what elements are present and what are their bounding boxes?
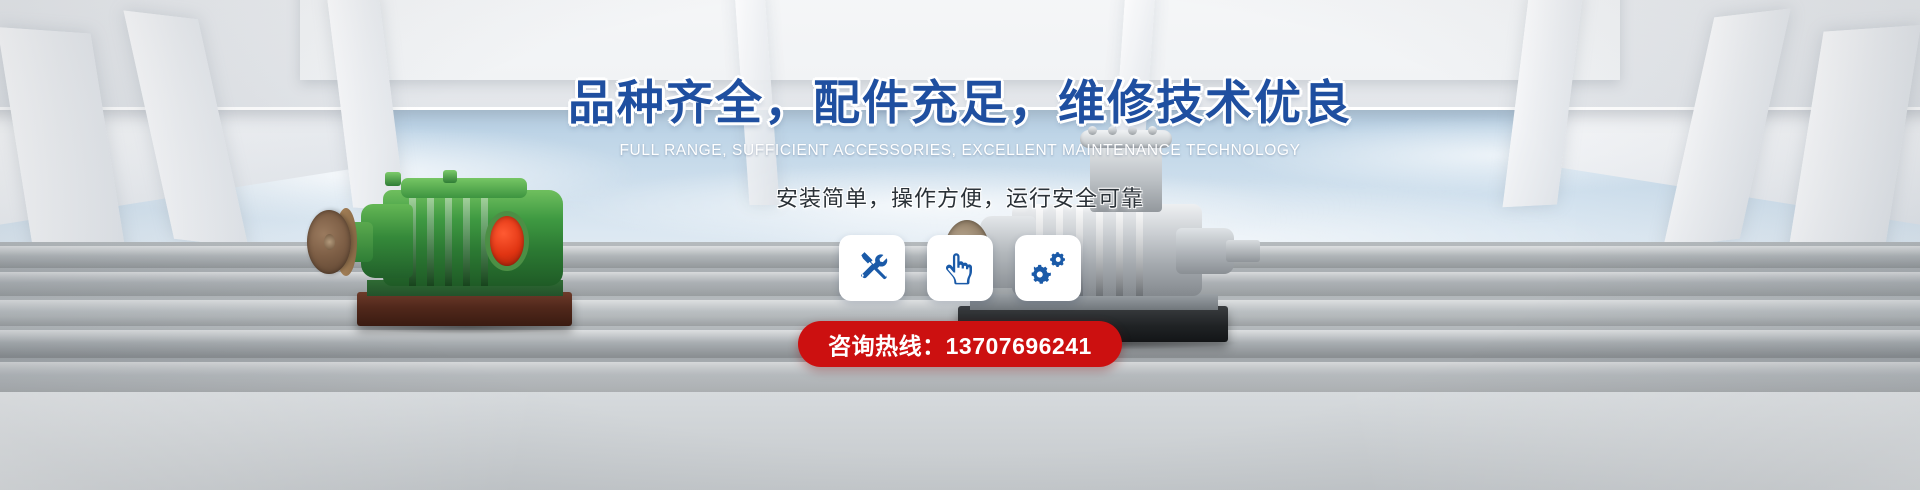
- feature-icon-row: 维修工具 操作简便 配件齐全: [839, 235, 1081, 301]
- tools-icon: [854, 250, 890, 286]
- hotline-cta-button[interactable]: 咨询热线：13707696241: [798, 321, 1122, 367]
- feature-item-operation[interactable]: 操作简便: [927, 235, 993, 301]
- gears-icon: [1030, 250, 1066, 286]
- banner-headline: 品种齐全，配件充足，维修技术优良: [568, 64, 1352, 133]
- feature-item-parts[interactable]: 配件齐全: [1015, 235, 1081, 301]
- banner-subtitle-chinese: 安装简单，操作方便，运行安全可靠: [776, 181, 1144, 213]
- feature-item-tools[interactable]: 维修工具: [839, 235, 905, 301]
- pointing-hand-icon: [942, 250, 978, 286]
- promo-banner: 品种齐全，配件充足，维修技术优良 FULL RANGE, SUFFICIENT …: [0, 0, 1920, 490]
- banner-subtitle-english: FULL RANGE, SUFFICIENT ACCESSORIES, EXCE…: [619, 142, 1300, 160]
- banner-content: 品种齐全，配件充足，维修技术优良 FULL RANGE, SUFFICIENT …: [0, 0, 1920, 490]
- hotline-cta-label: 咨询热线：13707696241: [828, 327, 1092, 361]
